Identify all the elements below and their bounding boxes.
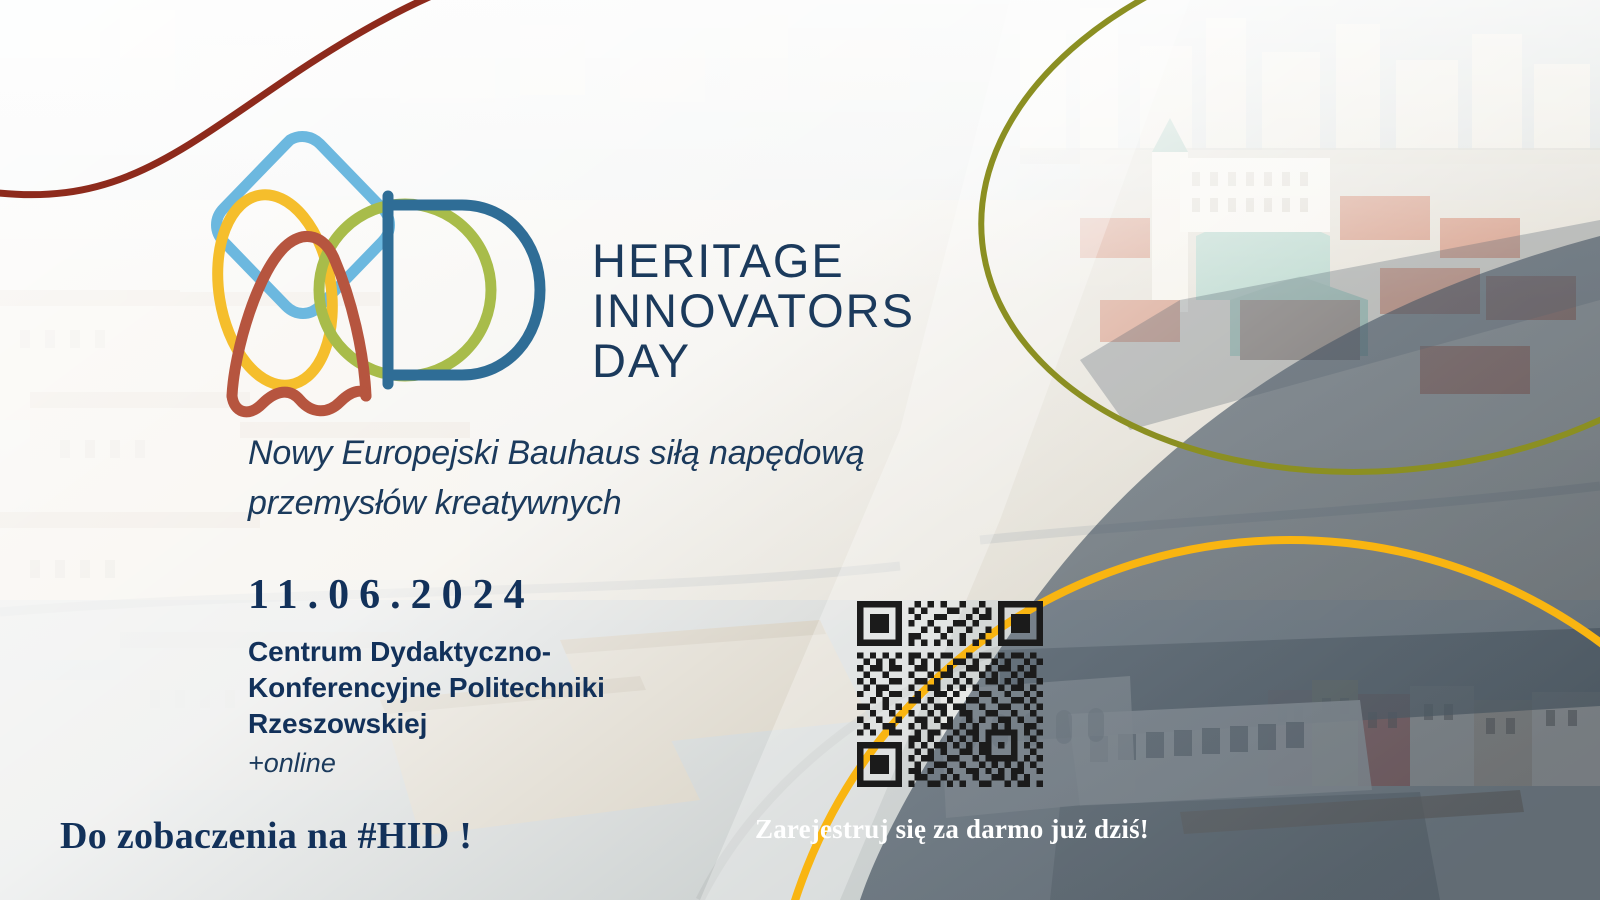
event-title: HERITAGE INNOVATORS DAY [592,236,915,386]
event-venue: Centrum Dydaktyczno- Konferencyjne Polit… [248,634,605,742]
registration-qr-code[interactable] [857,601,1043,787]
event-subtitle: Nowy Europejski Bauhaus siłą napędową pr… [248,428,864,528]
registration-cta: Zarejestruj się za darmo już dziś! [755,813,1149,845]
logo-terracotta-base [232,391,366,412]
signoff-text: Do zobaczenia na #HID ! [60,815,472,857]
event-poster: HERITAGE INNOVATORS DAY Nowy Europejski … [0,0,1600,900]
event-date: 11.06.2024 [248,572,535,618]
online-note: +online [248,748,336,778]
